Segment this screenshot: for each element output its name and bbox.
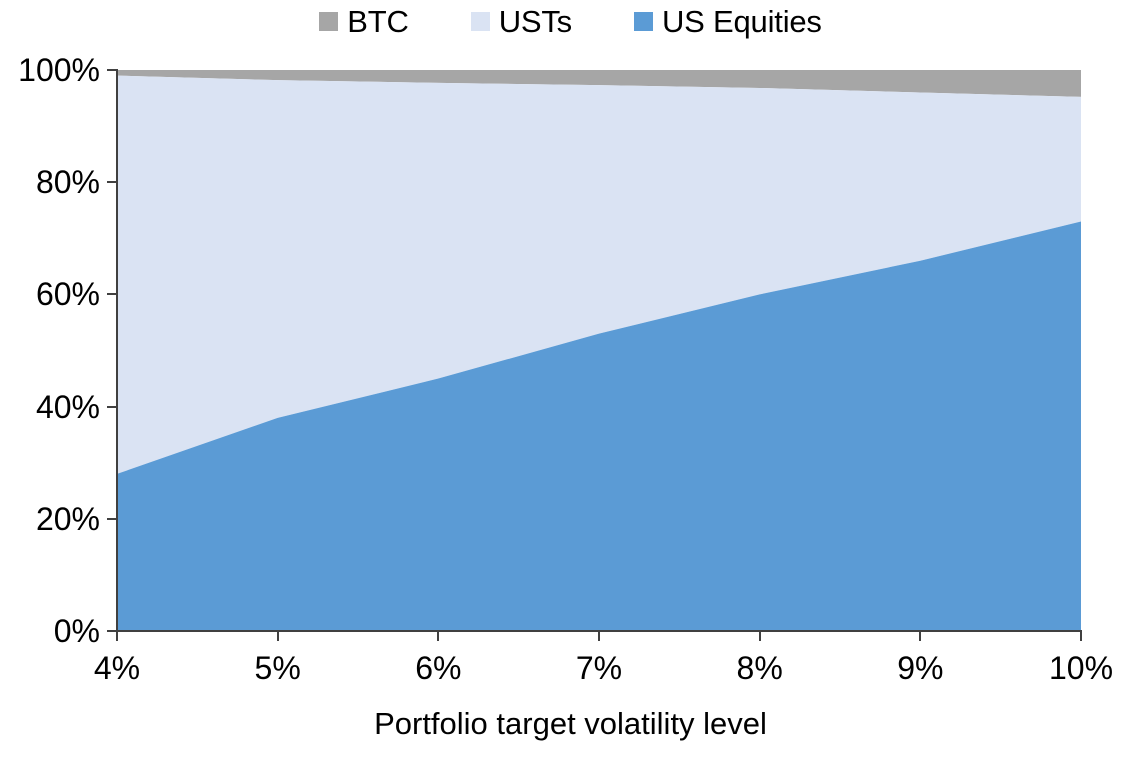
y-tick-label-80: 80% bbox=[0, 166, 100, 198]
x-tick-5 bbox=[277, 632, 279, 641]
x-tick-7 bbox=[598, 632, 600, 641]
y-tick-label-100: 100% bbox=[0, 54, 100, 86]
x-tick-label-8: 8% bbox=[700, 652, 820, 684]
x-tick-4 bbox=[116, 632, 118, 641]
y-tick-80 bbox=[107, 181, 116, 183]
x-tick-8 bbox=[759, 632, 761, 641]
x-tick-9 bbox=[919, 632, 921, 641]
y-axis-line bbox=[116, 69, 118, 632]
legend-label-us-equities: US Equities bbox=[662, 6, 822, 37]
x-tick-label-5: 5% bbox=[218, 652, 338, 684]
y-tick-label-0: 0% bbox=[0, 615, 100, 647]
legend-item-usts[interactable]: USTs bbox=[471, 6, 572, 37]
stacked-area-chart: BTC USTs US Equities 100%80%60%40%20%0% … bbox=[0, 0, 1141, 763]
legend-swatch-us-equities bbox=[634, 12, 653, 31]
chart-legend: BTC USTs US Equities bbox=[0, 6, 1141, 37]
y-tick-40 bbox=[107, 406, 116, 408]
y-tick-60 bbox=[107, 293, 116, 295]
legend-label-btc: BTC bbox=[347, 6, 408, 37]
x-tick-label-9: 9% bbox=[860, 652, 980, 684]
legend-swatch-btc bbox=[319, 12, 338, 31]
legend-item-us-equities[interactable]: US Equities bbox=[634, 6, 822, 37]
legend-swatch-usts bbox=[471, 12, 490, 31]
x-tick-6 bbox=[437, 632, 439, 641]
area-series-svg bbox=[117, 70, 1081, 631]
x-tick-label-7: 7% bbox=[539, 652, 659, 684]
plot-area bbox=[117, 70, 1081, 631]
y-tick-label-20: 20% bbox=[0, 503, 100, 535]
x-tick-label-4: 4% bbox=[57, 652, 177, 684]
x-tick-label-6: 6% bbox=[378, 652, 498, 684]
legend-item-btc[interactable]: BTC bbox=[319, 6, 408, 37]
x-tick-10 bbox=[1080, 632, 1082, 641]
y-tick-100 bbox=[107, 69, 116, 71]
y-tick-0 bbox=[107, 630, 116, 632]
legend-label-usts: USTs bbox=[499, 6, 572, 37]
y-tick-20 bbox=[107, 518, 116, 520]
y-tick-label-60: 60% bbox=[0, 278, 100, 310]
x-tick-label-10: 10% bbox=[1021, 652, 1141, 684]
y-tick-label-40: 40% bbox=[0, 391, 100, 423]
x-axis-title: Portfolio target volatility level bbox=[0, 708, 1141, 739]
